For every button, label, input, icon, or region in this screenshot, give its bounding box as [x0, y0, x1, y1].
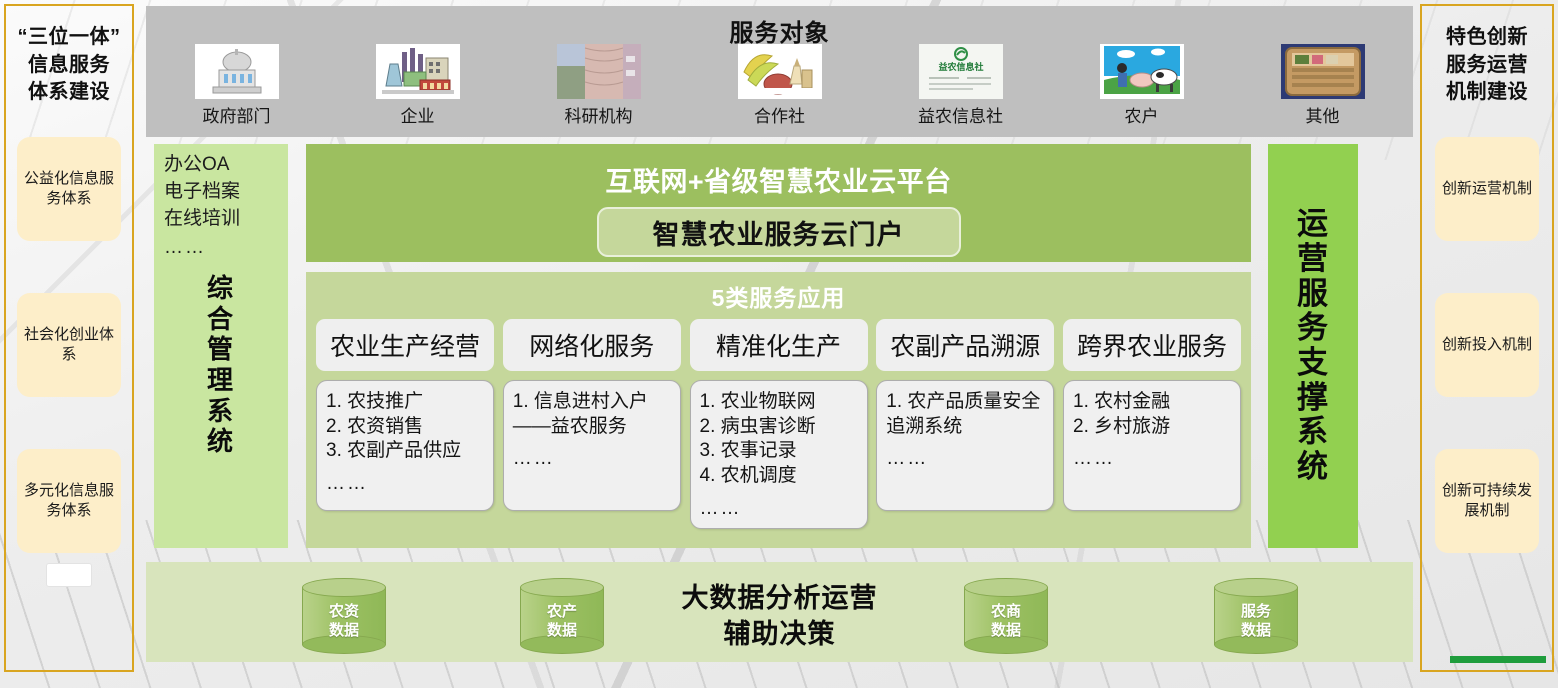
- produce-icon: [738, 44, 822, 99]
- factory-icon: [376, 44, 460, 99]
- app-column-product-traceability[interactable]: 农副产品溯源 1. 农产品质量安全追溯系统 ……: [876, 319, 1054, 529]
- app-body-list: 1. 农业物联网 2. 病虫害诊断 3. 农事记录 4. 农机调度 ……: [690, 380, 868, 529]
- cylinder-label: 服务 数据: [1214, 594, 1298, 650]
- farmer-livestock-icon: [1100, 44, 1184, 99]
- service-object-research[interactable]: 科研机构: [524, 44, 674, 127]
- app-column-cross-border-service[interactable]: 跨界农业服务 1. 农村金融 2. 乡村旅游 ……: [1063, 319, 1241, 529]
- service-applications-panel: 5类服务应用 农业生产经营 1. 农技推广 2. 农资销售 3. 农副产品供应 …: [306, 272, 1251, 548]
- right-panel-footer-marker: [1450, 656, 1546, 663]
- operations-vertical-char-3: 务: [1297, 311, 1329, 346]
- service-object-label: 合作社: [754, 102, 805, 127]
- operations-vertical-char-1: 营: [1297, 242, 1329, 277]
- cylinder-label: 农产 数据: [520, 594, 604, 650]
- cylinder-label-line-1: 农商: [991, 603, 1021, 622]
- app-head-label[interactable]: 精准化生产: [690, 319, 868, 371]
- app-ellipsis: ……: [326, 472, 486, 497]
- app-item: 1. 农技推广: [326, 390, 486, 415]
- left-panel-title-line-2: 信息服务: [10, 52, 128, 80]
- government-building-icon: [195, 44, 279, 99]
- app-item: 2. 乡村旅游: [1073, 415, 1233, 440]
- app-head-label[interactable]: 农业生产经营: [316, 319, 494, 371]
- app-column-precision-production[interactable]: 精准化生产 1. 农业物联网 2. 病虫害诊断 3. 农事记录 4. 农机调度 …: [690, 319, 868, 529]
- app-head-label[interactable]: 跨界农业服务: [1063, 319, 1241, 371]
- service-objects-title: 服务对象: [146, 13, 1413, 48]
- cloud-platform-banner: 互联网+省级智慧农业云平台 智慧农业服务云门户: [306, 144, 1251, 262]
- yinong-certificate-icon: 益农信息社: [919, 44, 1003, 99]
- app-item: 3. 农副产品供应: [326, 439, 486, 464]
- left-panel-box-diversified-info[interactable]: 多元化信息服务体系: [17, 449, 121, 553]
- app-ellipsis: ……: [886, 447, 1046, 472]
- center-stack: 办公OA 电子档案 在线培训 …… 综 合 管 理 系 统 互联网+省级智慧农业…: [146, 141, 1413, 553]
- service-object-farmer[interactable]: 农户: [1067, 44, 1217, 127]
- management-item-archive: 电子档案: [164, 179, 278, 206]
- cylinder-label: 农商 数据: [964, 594, 1048, 650]
- right-panel-title: 特色创新 服务运营 机制建设: [1428, 24, 1546, 107]
- right-panel-box-innovation-sustainable[interactable]: 创新可持续发展机制: [1435, 449, 1539, 553]
- management-vertical-char-2: 管: [164, 334, 278, 365]
- cylinder-label-line-2: 数据: [329, 622, 359, 641]
- cylinder-label-line-1: 服务: [1241, 603, 1271, 622]
- service-object-other[interactable]: 其他: [1248, 44, 1398, 127]
- service-object-label: 其他: [1306, 102, 1340, 127]
- app-item: 4. 农机调度: [700, 464, 860, 489]
- right-panel-innovation: 特色创新 服务运营 机制建设 创新运营机制 创新投入机制 创新可持续发展机制: [1420, 4, 1554, 672]
- service-object-yinong[interactable]: 益农信息社 益农信息社: [886, 44, 1036, 127]
- left-panel-footer-marker: [46, 563, 92, 587]
- service-object-label: 农户: [1125, 102, 1159, 127]
- cylinder-label-line-1: 农资: [329, 603, 359, 622]
- cylinder-label-line-2: 数据: [1241, 622, 1271, 641]
- right-panel-box-innovation-investment[interactable]: 创新投入机制: [1435, 293, 1539, 397]
- database-cylinder-agri-input[interactable]: 农资 数据: [302, 578, 386, 652]
- management-vertical-char-1: 合: [164, 304, 278, 335]
- service-applications-title: 5类服务应用: [306, 272, 1251, 313]
- management-ellipsis: ……: [164, 237, 278, 259]
- management-system-column[interactable]: 办公OA 电子档案 在线培训 …… 综 合 管 理 系 统: [154, 144, 288, 548]
- app-item: 1. 信息进村入户——益农服务: [513, 390, 673, 439]
- left-panel-title-line-1: “三位一体”: [10, 24, 128, 52]
- app-body-list: 1. 农产品质量安全追溯系统 ……: [876, 380, 1054, 511]
- left-panel-box-public-welfare[interactable]: 公益化信息服务体系: [17, 137, 121, 241]
- service-objects-row: 政府部门 企业: [146, 44, 1413, 134]
- app-item: 1. 农业物联网: [700, 390, 860, 415]
- left-panel-three-in-one: “三位一体” 信息服务 体系建设 公益化信息服务体系 社会化创业体系 多元化信息…: [4, 4, 134, 672]
- cloud-platform-title: 互联网+省级智慧农业云平台: [306, 144, 1251, 199]
- database-cylinder-agri-commerce[interactable]: 农商 数据: [964, 578, 1048, 652]
- app-ellipsis: ……: [513, 447, 673, 472]
- left-panel-title-line-3: 体系建设: [10, 79, 128, 107]
- svg-text:益农信息社: 益农信息社: [938, 61, 983, 73]
- right-panel-title-line-1: 特色创新: [1428, 24, 1546, 52]
- app-item: 1. 农产品质量安全追溯系统: [886, 390, 1046, 439]
- operations-vertical-char-0: 运: [1297, 207, 1329, 242]
- app-item: 2. 农资销售: [326, 415, 486, 440]
- left-panel-box-social-entrepreneurship[interactable]: 社会化创业体系: [17, 293, 121, 397]
- operations-vertical-char-4: 支: [1297, 346, 1329, 381]
- app-column-agricultural-production[interactable]: 农业生产经营 1. 农技推广 2. 农资销售 3. 农副产品供应 ……: [316, 319, 494, 529]
- app-item: 1. 农村金融: [1073, 390, 1233, 415]
- service-object-label: 益农信息社: [918, 102, 1003, 127]
- operations-vertical-char-6: 系: [1297, 415, 1329, 450]
- app-item: 3. 农事记录: [700, 439, 860, 464]
- research-building-icon: [557, 44, 641, 99]
- app-body-list: 1. 农技推广 2. 农资销售 3. 农副产品供应 ……: [316, 380, 494, 511]
- app-column-networked-service[interactable]: 网络化服务 1. 信息进村入户——益农服务 ……: [503, 319, 681, 529]
- database-cylinder-agri-output[interactable]: 农产 数据: [520, 578, 604, 652]
- app-item: 2. 病虫害诊断: [700, 415, 860, 440]
- big-data-bar: 大数据分析运营 辅助决策 农资 数据 农产 数据 农商 数据 服务 数据: [146, 562, 1413, 662]
- right-panel-title-line-3: 机制建设: [1428, 79, 1546, 107]
- app-head-label[interactable]: 网络化服务: [503, 319, 681, 371]
- management-vertical-title: 综 合 管 理 系 统: [164, 273, 278, 457]
- shelf-icon: [1281, 44, 1365, 99]
- database-cylinder-service[interactable]: 服务 数据: [1214, 578, 1298, 652]
- operations-vertical-title: 运 营 服 务 支 撑 系 统: [1297, 207, 1329, 485]
- management-vertical-char-5: 统: [164, 426, 278, 457]
- app-body-list: 1. 农村金融 2. 乡村旅游 ……: [1063, 380, 1241, 511]
- service-object-cooperative[interactable]: 合作社: [705, 44, 855, 127]
- cylinder-label: 农资 数据: [302, 594, 386, 650]
- service-applications-row: 农业生产经营 1. 农技推广 2. 农资销售 3. 农副产品供应 …… 网络化服…: [306, 313, 1251, 529]
- right-panel-box-innovation-operation[interactable]: 创新运营机制: [1435, 137, 1539, 241]
- service-object-label: 科研机构: [565, 102, 633, 127]
- operations-vertical-char-5: 撑: [1297, 381, 1329, 416]
- right-panel-title-line-2: 服务运营: [1428, 52, 1546, 80]
- cloud-portal-button[interactable]: 智慧农业服务云门户: [597, 207, 961, 257]
- operations-support-column[interactable]: 运 营 服 务 支 撑 系 统: [1268, 144, 1358, 548]
- operations-vertical-char-7: 统: [1297, 450, 1329, 485]
- service-object-enterprise[interactable]: 企业: [343, 44, 493, 127]
- service-objects-bar: 服务对象 政府部门: [146, 6, 1413, 137]
- cylinder-label-line-2: 数据: [991, 622, 1021, 641]
- operations-vertical-char-2: 服: [1297, 277, 1329, 312]
- app-ellipsis: ……: [1073, 447, 1233, 472]
- service-object-label: 政府部门: [203, 102, 271, 127]
- app-head-label[interactable]: 农副产品溯源: [876, 319, 1054, 371]
- left-panel-title: “三位一体” 信息服务 体系建设: [10, 24, 128, 107]
- cylinder-label-line-2: 数据: [547, 622, 577, 641]
- management-item-training: 在线培训: [164, 206, 278, 233]
- management-item-oa: 办公OA: [164, 152, 278, 179]
- management-vertical-char-4: 系: [164, 396, 278, 427]
- management-vertical-char-0: 综: [164, 273, 278, 304]
- app-ellipsis: ……: [700, 497, 860, 522]
- management-vertical-char-3: 理: [164, 365, 278, 396]
- service-object-government[interactable]: 政府部门: [162, 44, 312, 127]
- service-object-label: 企业: [401, 102, 435, 127]
- app-body-list: 1. 信息进村入户——益农服务 ……: [503, 380, 681, 511]
- cylinder-label-line-1: 农产: [547, 603, 577, 622]
